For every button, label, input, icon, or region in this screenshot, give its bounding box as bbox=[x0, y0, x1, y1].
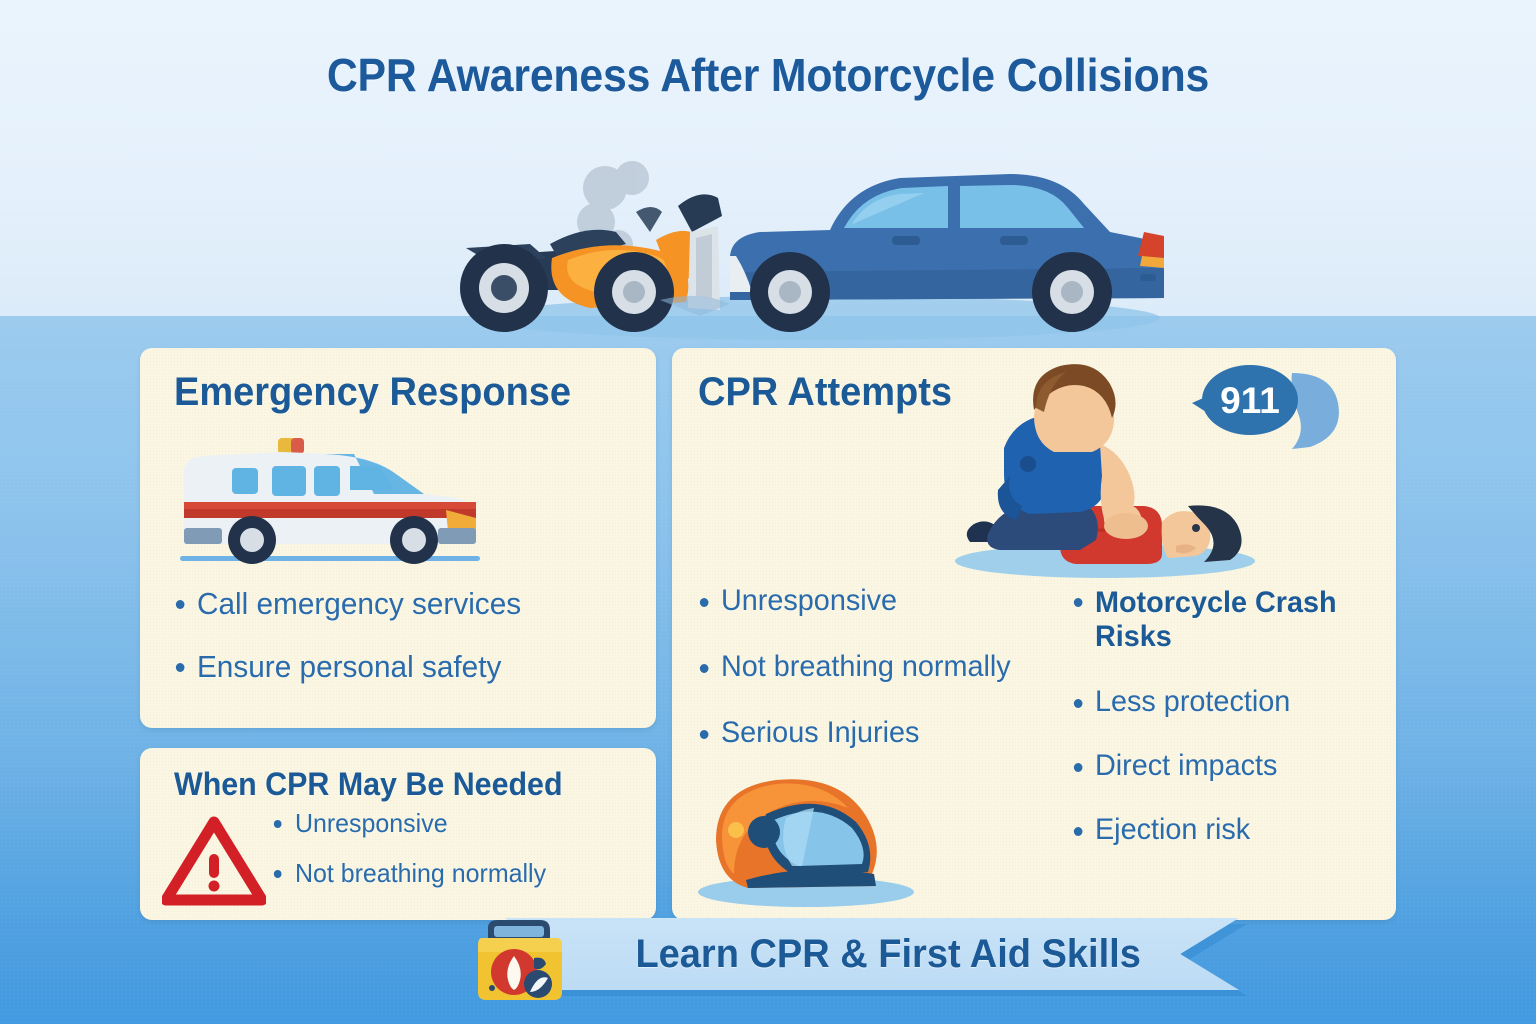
card-heading-cpr-attempts: CPR Attempts bbox=[698, 370, 952, 415]
bullet-item-risks-title: Motorcycle Crash Risks bbox=[1070, 586, 1377, 653]
motorcycle-helmet-icon bbox=[688, 764, 918, 914]
warning-triangle-icon bbox=[162, 816, 266, 906]
bullet-item: Not breathing normally bbox=[696, 652, 1011, 682]
cta-banner[interactable]: Learn CPR & First Aid Skills bbox=[505, 918, 1239, 990]
collision-scene-svg bbox=[400, 140, 1200, 340]
bullet-item: Unresponsive bbox=[696, 586, 1011, 616]
call-911-label: 911 bbox=[1220, 380, 1280, 421]
hero-illustration bbox=[400, 140, 1200, 340]
bullet-item: Ensure personal safety bbox=[172, 651, 521, 682]
card-cpr-attempts: CPR Attempts bbox=[672, 348, 1396, 920]
bullet-item: Direct impacts bbox=[1070, 751, 1377, 781]
bullet-item: Less protection bbox=[1070, 687, 1377, 717]
bullet-list-cpr-attempts: Unresponsive Not breathing normally Seri… bbox=[696, 586, 1024, 784]
bullet-list-crash-risks: Motorcycle Crash Risks Less protection D… bbox=[1070, 586, 1390, 879]
banner-label: Learn CPR & First Aid Skills bbox=[523, 918, 1220, 990]
bullet-item: Not breathing normally bbox=[270, 860, 546, 886]
card-emergency-response: Emergency Response Call emergency servic… bbox=[140, 348, 656, 728]
infographic-canvas: CPR Awareness After Motorcycle Collision… bbox=[0, 0, 1536, 1024]
bullet-item: Call emergency services bbox=[172, 588, 521, 619]
bullet-item: Unresponsive bbox=[270, 810, 546, 836]
card-when-cpr-needed: When CPR May Be Needed Unresponsive Not … bbox=[140, 748, 656, 920]
bullet-item: Ejection risk bbox=[1070, 815, 1377, 845]
bullet-item: Serious Injuries bbox=[696, 718, 1011, 748]
bullet-list-emergency: Call emergency services Ensure personal … bbox=[172, 588, 536, 714]
rescuer-figure bbox=[967, 364, 1148, 550]
card-heading-emergency-response: Emergency Response bbox=[174, 370, 571, 415]
card-heading-when-cpr-needed: When CPR May Be Needed bbox=[174, 766, 563, 803]
call-911-bubble-icon: 911 bbox=[1180, 355, 1360, 475]
ambulance-icon bbox=[174, 428, 504, 578]
first-aid-kit-icon bbox=[470, 912, 566, 1004]
bullet-list-when-cpr: Unresponsive Not breathing normally bbox=[270, 810, 558, 910]
page-title: CPR Awareness After Motorcycle Collision… bbox=[54, 48, 1482, 102]
